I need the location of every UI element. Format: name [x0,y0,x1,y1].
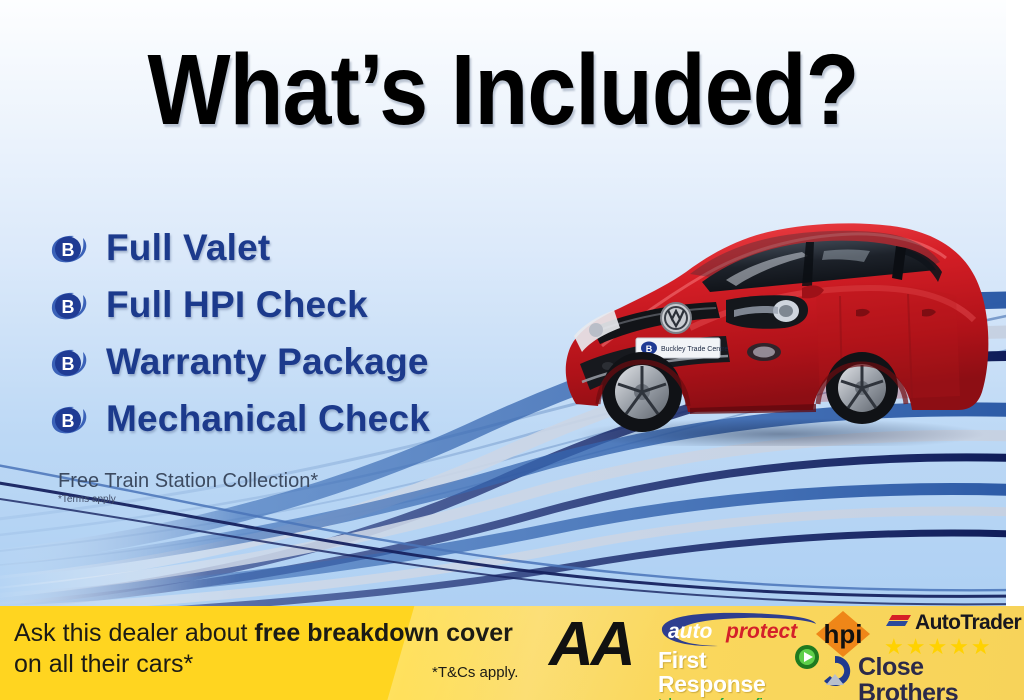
autoprotect-logo: auto protect [658,612,818,648]
list-item: B Full HPI Check [50,277,430,333]
banner-text-bold-1: free breakdown [254,619,439,647]
svg-text:B: B [62,411,75,431]
first-response-tagline: take care of your finance [658,696,810,700]
first-response-title: First Response [658,648,810,696]
aa-logo: AA [549,614,633,676]
feature-label: Mechanical Check [106,398,430,440]
hpi-logo: hpi [812,610,874,658]
buckley-b-logo-icon: B [50,404,90,436]
vw-roundel-icon [661,303,691,333]
banner-text-1: Ask this dealer about [14,619,254,647]
plate-text: Buckley Trade Centre [661,346,728,353]
autotrader-logo: AutoTrader [884,610,1024,636]
poster-background-panel: What’s Included? [0,0,1006,608]
buckley-b-logo-icon: B [50,233,90,265]
autoprotect-word-2: protect [725,620,798,643]
autotrader-flag-icon [884,614,912,632]
close-brothers-title: Close Brothers [858,654,1018,700]
close-brothers-mark-icon [818,654,852,688]
svg-text:B: B [62,354,75,374]
page-title: What’s Included? [60,38,945,142]
breakdown-cover-banner: Ask this dealer about free breakdown cov… [0,606,1024,700]
included-features-list: B Full Valet B Full HPI Check [50,220,430,448]
list-item: B Full Valet [50,220,430,276]
banner-terms: *T&Cs apply. [432,664,518,681]
list-item: B Mechanical Check [50,391,430,447]
hpi-wordmark: hpi [824,619,863,649]
feature-label: Full Valet [106,227,270,269]
buckley-b-logo-icon: B [50,290,90,322]
feature-label: Warranty Package [106,341,429,383]
free-train-station-note: Free Train Station Collection* [58,470,318,493]
terms-apply-note: *Terms apply [58,494,116,505]
first-response-logo: First Response take care of your finance [658,648,810,694]
feature-label: Full HPI Check [106,284,368,326]
buckley-b-logo-icon: B [50,347,90,379]
autoprotect-word-1: auto [668,620,713,643]
svg-text:B: B [62,240,75,260]
banner-text-bold-2: cover [446,619,513,647]
banner-text-3: on all their cars* [14,650,193,678]
whats-included-poster: What’s Included? [0,0,1024,700]
svg-text:B: B [62,297,75,317]
car-photo: B Buckley Trade Centre [540,196,1006,446]
autotrader-wordmark: AutoTrader [915,612,1021,634]
list-item: B Warranty Package [50,334,430,390]
close-brothers-logo: Close Brothers Motor Finance [818,654,1018,698]
